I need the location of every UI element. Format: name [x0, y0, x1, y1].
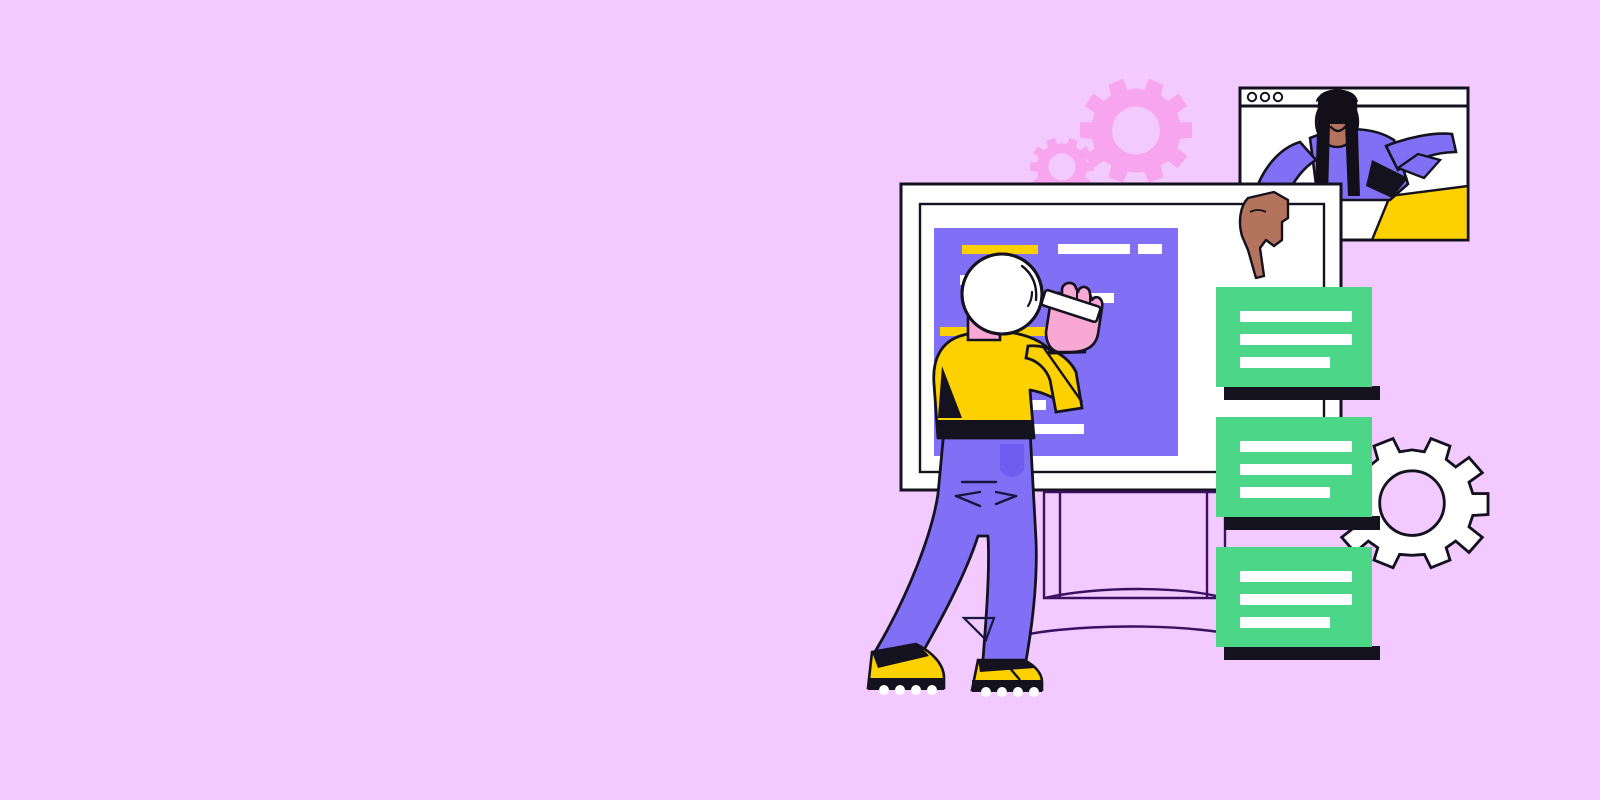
pants-pocket: [1000, 444, 1024, 477]
shoe-right: [972, 660, 1042, 697]
result-card-3[interactable]: [1216, 547, 1380, 660]
browser-dot-2: [1261, 93, 1269, 101]
result-card-2[interactable]: [1216, 417, 1380, 530]
browser-dot-3: [1274, 93, 1282, 101]
card-line: [1240, 487, 1330, 498]
card-line: [1240, 464, 1352, 475]
result-card-1[interactable]: [1216, 287, 1380, 400]
hero-illustration: [0, 0, 1600, 800]
card-line: [1240, 571, 1352, 582]
card-line: [1240, 334, 1352, 345]
card-line: [1240, 617, 1330, 628]
card-line: [1240, 594, 1352, 605]
card-line: [1240, 357, 1330, 368]
browser-dot-1: [1248, 93, 1256, 101]
card-line: [1240, 311, 1352, 322]
hero-banner: The Basics of Meta Descriptions: [0, 0, 1600, 800]
card-line: [1240, 441, 1352, 452]
